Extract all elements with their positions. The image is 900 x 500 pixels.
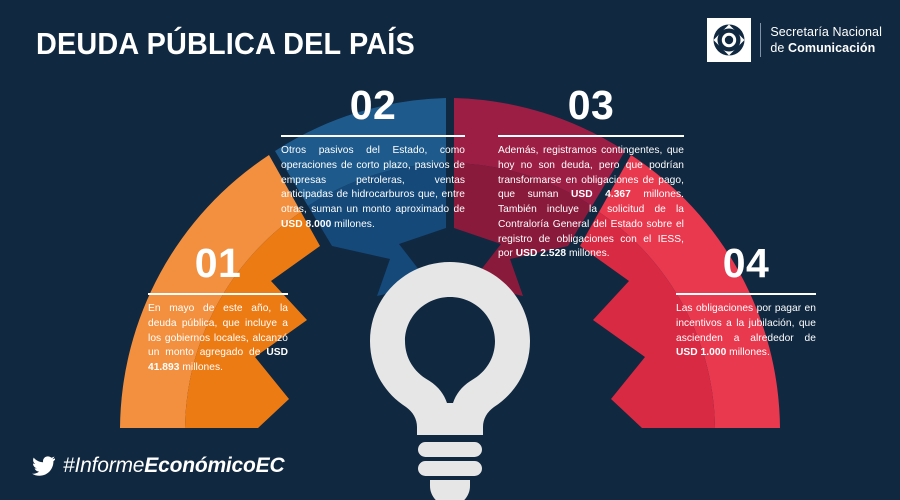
hashtag-prefix: #Informe	[63, 454, 144, 477]
segment-number-02: 02	[281, 85, 465, 126]
segment-number-04: 04	[676, 243, 816, 284]
segment-body-02: Otros pasivos del Estado, como operacion…	[281, 144, 465, 233]
hashtag-bold: EconómicoEC	[144, 454, 284, 477]
segment-body-01: En mayo de este año, la deuda pública, q…	[148, 302, 288, 376]
twitter-bird-icon[interactable]	[31, 456, 55, 476]
segment-body-03: Además, registramos contingentes, que ho…	[498, 144, 684, 262]
segment-content-02: 02 Otros pasivos del Estado, como operac…	[281, 85, 465, 233]
segment-rule-04	[676, 293, 816, 295]
lightbulb-icon	[370, 262, 530, 500]
segment-content-04: 04 Las obligaciones por pagar en incenti…	[676, 243, 816, 361]
segment-rule-01	[148, 293, 288, 295]
segment-content-03: 03 Además, registramos contingentes, que…	[498, 85, 684, 262]
segment-number-03: 03	[498, 85, 684, 126]
footer-handle-text[interactable]: #InformeEconómicoEC	[63, 454, 284, 478]
segment-content-01: 01 En mayo de este año, la deuda pública…	[148, 243, 288, 376]
segment-number-01: 01	[148, 243, 288, 284]
footer-hashtag[interactable]: #InformeEconómicoEC	[31, 454, 284, 478]
segment-rule-02	[281, 135, 465, 137]
segment-rule-03	[498, 135, 684, 137]
segment-body-04: Las obligaciones por pagar en incentivos…	[676, 302, 816, 361]
